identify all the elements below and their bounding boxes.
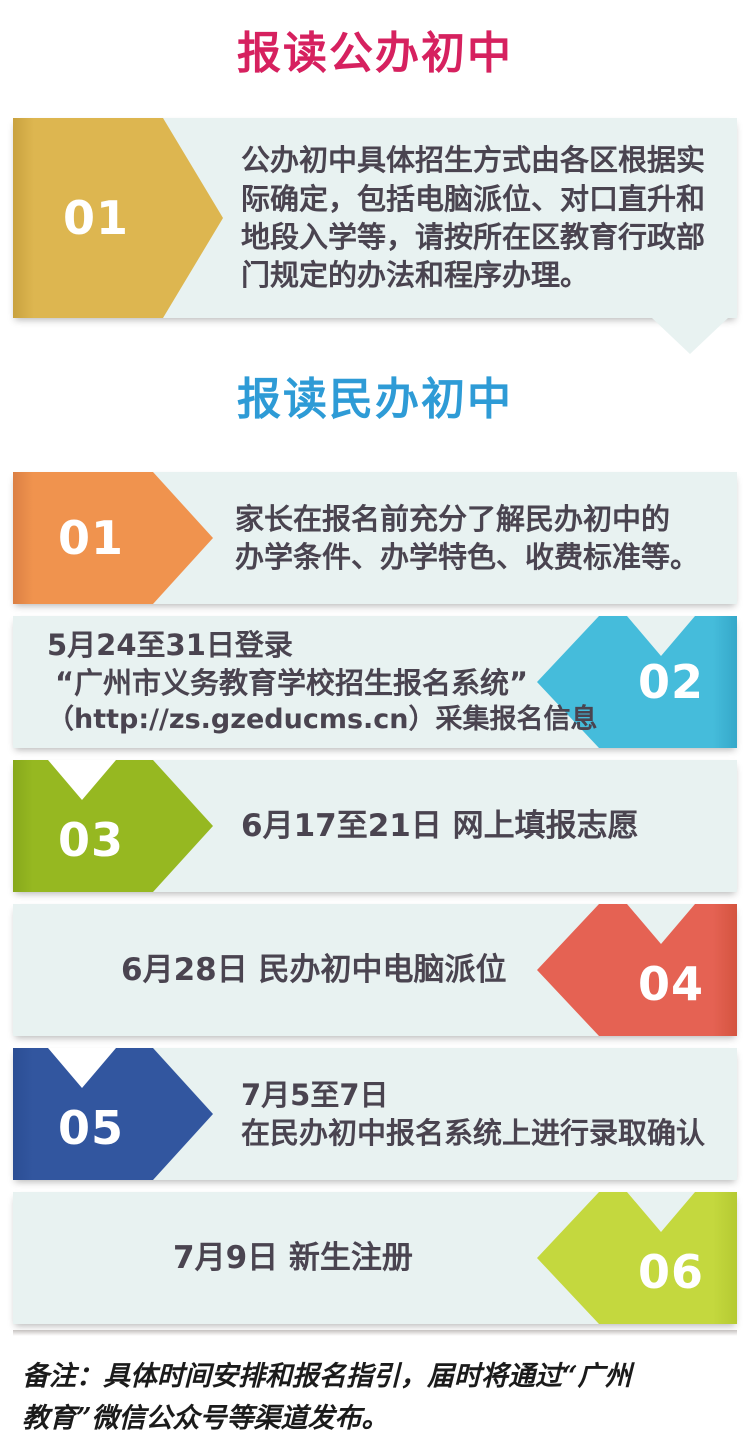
step-row-private-02: 02 5月24至31日登录 “广州市义务教育学校招生报名系统” （http://…	[13, 616, 737, 748]
step-number-label: 03	[0, 774, 191, 906]
step-number-label: 01	[0, 472, 191, 604]
step-row-public-01: 01 公办初中具体招生方式由各区根据实 际确定，包括电脑派位、对口直升和 地段入…	[13, 118, 737, 318]
step-text-line: 6月28日 民办初中电脑派位	[121, 950, 507, 991]
step-text-line: 办学条件、办学特色、收费标准等。	[235, 538, 699, 576]
step-row-private-01: 01 家长在报名前充分了解民办初中的 办学条件、办学特色、收费标准等。	[13, 472, 737, 604]
footer-note: 备注：具体时间安排和报名指引，届时将通过“广州 教育”微信公众号等渠道发布。	[22, 1356, 728, 1440]
step-number-label: 06	[571, 1206, 750, 1338]
step-text-line: 地段入学等，请按所在区教育行政部	[241, 218, 705, 256]
section-title-public-junior-high: 报读公办初中	[0, 32, 750, 76]
step-text-line: 门规定的办法和程序办理。	[241, 256, 705, 294]
step-text-line: 在民办初中报名系统上进行录取确认	[241, 1114, 705, 1152]
step-text-line: 公办初中具体招生方式由各区根据实	[241, 141, 705, 179]
step-number-chevron-private-05: 05	[13, 1048, 213, 1180]
step-row-private-04: 04 6月28日 民办初中电脑派位	[13, 904, 737, 1036]
step-text-line: 5月24至31日登录	[47, 626, 293, 664]
step-text-private-06: 7月9日 新生注册	[173, 1192, 413, 1324]
step-text-line: 家长在报名前充分了解民办初中的	[235, 500, 699, 538]
step-text-line: 7月5至7日	[241, 1076, 705, 1114]
step-text-line: “广州市义务教育学校招生报名系统”	[47, 664, 528, 702]
step-text-public-01: 公办初中具体招生方式由各区根据实 际确定，包括电脑派位、对口直升和 地段入学等，…	[241, 118, 705, 318]
step-text-line: 际确定，包括电脑派位、对口直升和	[241, 180, 705, 218]
step-text-private-05: 7月5至7日 在民办初中报名系统上进行录取确认	[241, 1048, 705, 1180]
step-text-line: 7月9日 新生注册	[173, 1238, 413, 1279]
step-row-private-03: 03 6月17至21日 网上填报志愿	[13, 760, 737, 892]
step-text-line: 6月17至21日 网上填报志愿	[241, 806, 639, 847]
step-number-chevron-private-03: 03	[13, 760, 213, 892]
step-number-chevron-private-01: 01	[13, 472, 213, 604]
section-title-private-junior-high: 报读民办初中	[0, 378, 750, 422]
step-row-private-06: 06 7月9日 新生注册	[13, 1192, 737, 1324]
step-number-label: 01	[0, 118, 201, 318]
step-text-private-01: 家长在报名前充分了解民办初中的 办学条件、办学特色、收费标准等。	[235, 472, 699, 604]
step-text-private-04: 6月28日 民办初中电脑派位	[121, 904, 507, 1036]
step-text-line: （http://zs.gzeducms.cn）采集报名信息	[47, 702, 598, 738]
step-number-chevron-public-01: 01	[13, 118, 223, 318]
step-number-label: 04	[571, 918, 750, 1050]
step-number-label: 05	[0, 1062, 191, 1194]
row-tail-notch-public-01	[652, 318, 728, 354]
step-number-chevron-private-04: 04	[537, 904, 737, 1036]
step-number-chevron-private-06: 06	[537, 1192, 737, 1324]
footer-note-line: 备注：具体时间安排和报名指引，届时将通过“广州	[22, 1356, 728, 1398]
step-row-private-05: 05 7月5至7日 在民办初中报名系统上进行录取确认	[13, 1048, 737, 1180]
step-text-private-02: 5月24至31日登录 “广州市义务教育学校招生报名系统” （http://zs.…	[47, 616, 598, 748]
step-text-private-03: 6月17至21日 网上填报志愿	[241, 760, 639, 892]
footer-note-line: 教育”微信公众号等渠道发布。	[22, 1398, 728, 1440]
